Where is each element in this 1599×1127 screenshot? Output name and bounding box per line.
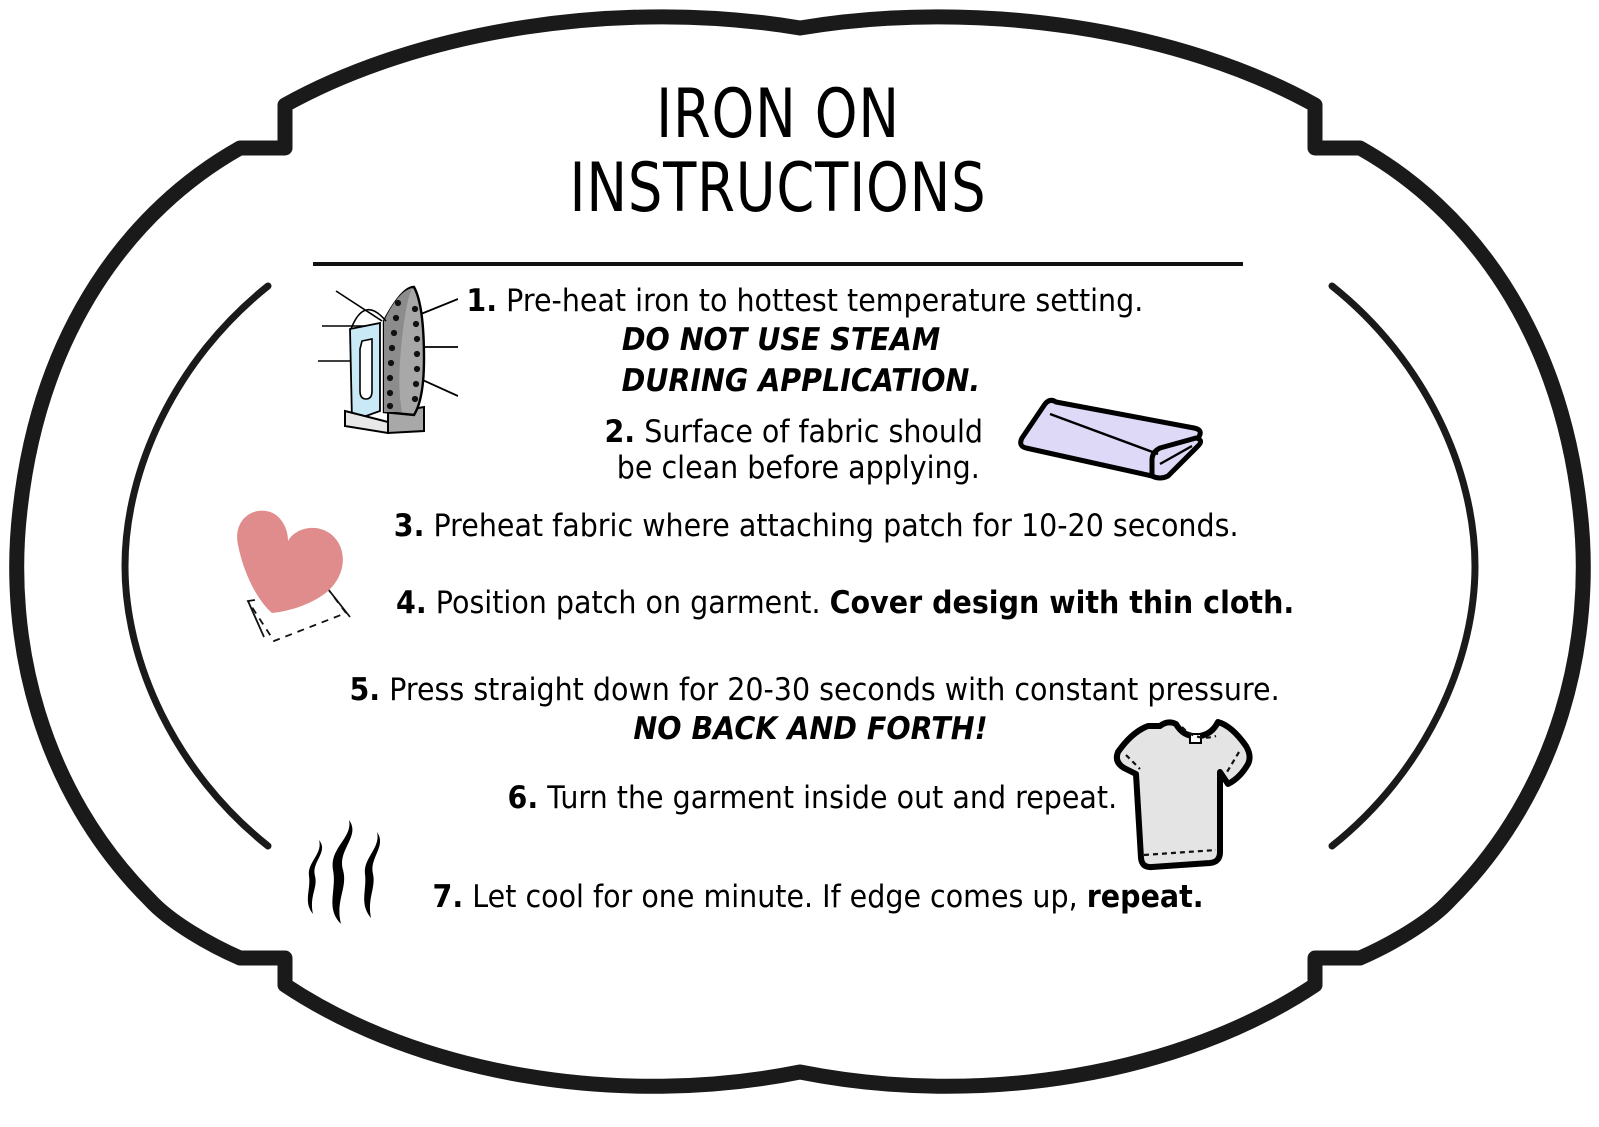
step-text-2a: Surface of fabric should <box>635 414 983 450</box>
step-text-7-bold: repeat. <box>1087 879 1204 915</box>
step-text-6: Turn the garment inside out and repeat. <box>538 780 1117 816</box>
heart-patch-icon <box>222 505 362 650</box>
title-line-1: IRON ON <box>406 78 1150 152</box>
step-number-2: 2. <box>604 414 635 450</box>
steam-wisp-left <box>308 840 322 914</box>
step-text-4: Position patch on garment. <box>427 585 830 621</box>
t-shirt-icon <box>1108 712 1258 872</box>
instruction-3: 3. Preheat fabric where attaching patch … <box>394 508 1239 544</box>
instruction-2-line-1: 2. Surface of fabric should <box>604 414 983 450</box>
instruction-2-line-2: be clean before applying. <box>617 450 980 486</box>
step-number-5: 5. <box>349 672 380 708</box>
iron-tank-window <box>360 339 372 399</box>
shirt-body <box>1117 722 1250 867</box>
instruction-6: 6. Turn the garment inside out and repea… <box>508 780 1118 816</box>
step-text-1: Pre-heat iron to hottest temperature set… <box>497 283 1143 319</box>
step-number-6: 6. <box>508 780 539 816</box>
clothes-iron-icon <box>318 281 458 446</box>
steam-wisp-center <box>332 820 352 924</box>
instruction-1: 1. Pre-heat iron to hottest temperature … <box>466 283 1143 319</box>
page-title: IRON ON INSTRUCTIONS <box>313 78 1243 226</box>
frame-inner-arc-right <box>1332 286 1475 846</box>
instruction-5: 5. Press straight down for 20-30 seconds… <box>349 672 1279 708</box>
step-number-7: 7. <box>433 879 464 915</box>
steam-wisp-right <box>364 832 380 918</box>
step-text-3: Preheat fabric where attaching patch for… <box>424 508 1238 544</box>
instruction-1-emphasis-2: DURING APPLICATION. <box>622 363 981 399</box>
instruction-card: IRON ON INSTRUCTIONS <box>0 0 1599 1127</box>
instruction-5-emphasis: NO BACK AND FORTH! <box>633 711 987 747</box>
instruction-4: 4. Position patch on garment. Cover desi… <box>396 585 1294 621</box>
step-number-1: 1. <box>466 283 497 319</box>
step-number-4: 4. <box>396 585 427 621</box>
title-divider <box>313 262 1243 266</box>
title-line-2: INSTRUCTIONS <box>406 152 1150 226</box>
step-text-5: Press straight down for 20-30 seconds wi… <box>380 672 1280 708</box>
step-text-7: Let cool for one minute. If edge comes u… <box>463 879 1087 915</box>
folded-fabric-icon <box>1012 386 1212 486</box>
step-number-3: 3. <box>394 508 425 544</box>
step-text-4-bold: Cover design with thin cloth. <box>830 585 1295 621</box>
steam-wisps-icon <box>301 818 393 926</box>
instruction-7: 7. Let cool for one minute. If edge come… <box>433 879 1204 915</box>
instruction-1-emphasis-1: DO NOT USE STEAM <box>622 322 940 358</box>
